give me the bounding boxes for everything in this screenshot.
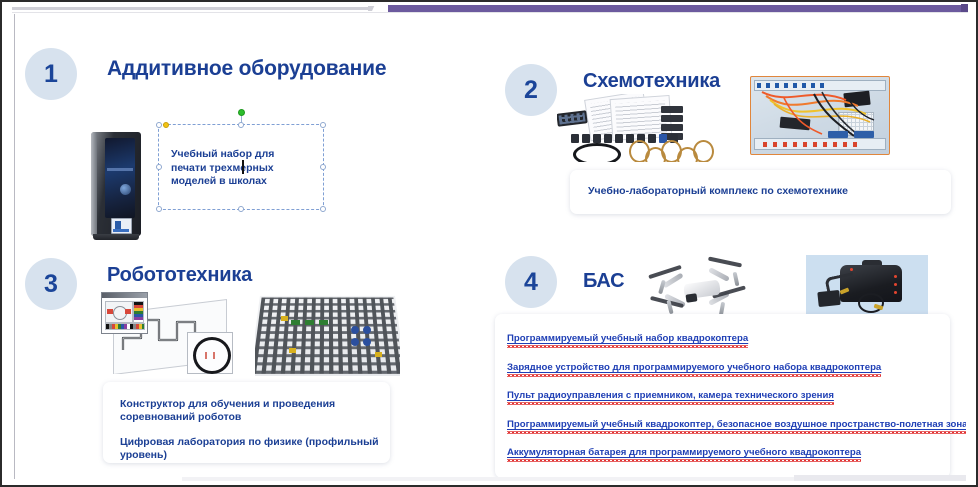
- kit-module: [661, 124, 683, 131]
- resize-handle-bottom-center[interactable]: [238, 206, 244, 212]
- section-circuitry: 2 Схемотехника: [495, 28, 966, 253]
- tray-wheel-part: [351, 338, 359, 346]
- info-card-line: Конструктор для обучения и проведения со…: [120, 398, 390, 424]
- palette-preview: [105, 301, 133, 323]
- case-indicator-led: [850, 268, 853, 271]
- tray-parts-grid: [255, 297, 400, 373]
- kit-component: [582, 134, 590, 143]
- printer-glass-shape: [105, 138, 135, 218]
- drone-propeller: [708, 257, 742, 268]
- rotate-handle[interactable]: [238, 109, 245, 116]
- tray-board-part: [319, 320, 328, 325]
- lab-board-connector: [854, 131, 874, 138]
- info-card-line: Учебно-лабораторный комплекс по схемотех…: [588, 185, 951, 198]
- resize-handle-top-center[interactable]: [238, 122, 244, 128]
- kit-component: [604, 134, 612, 143]
- kit-component: [615, 134, 623, 143]
- sumo-ring-shape: [193, 337, 231, 374]
- printer-gantry-shape: [107, 168, 133, 171]
- section-title-uav: БАС: [583, 270, 624, 293]
- list-item[interactable]: Программируемый учебный квадрокоптер, бе…: [507, 419, 966, 431]
- info-card-line: Цифровая лаборатория по физике (профильн…: [120, 436, 390, 462]
- info-card-robotics: Конструктор для обучения и проведения со…: [103, 382, 390, 463]
- palette-red-block: [107, 309, 113, 314]
- list-item[interactable]: Зарядное устройство для программируемого…: [507, 362, 881, 374]
- section-badge-2: 2: [505, 64, 557, 116]
- ribbon-remnant-left: [12, 7, 376, 10]
- resize-handle-top-right[interactable]: [320, 122, 326, 128]
- section-additive-equipment: 1 Аддитивное оборудование Учебный набор …: [19, 28, 495, 253]
- kit-keypad-shape: [557, 110, 588, 127]
- section-robotics: 3 Робототехника: [19, 246, 495, 479]
- ribbon-remnant-left-taper: [368, 6, 380, 11]
- ribbon-underline: [12, 12, 968, 13]
- tray-small-part: [281, 316, 288, 321]
- info-card-circuitry: Учебно-лабораторный комплекс по схемотех…: [570, 170, 951, 214]
- sumo-ring-window: [187, 332, 233, 374]
- tray-small-part: [375, 352, 382, 357]
- tray-board-part: [291, 320, 300, 325]
- robot-parts-tray-photo: [255, 290, 400, 376]
- resize-handle-bottom-right[interactable]: [320, 206, 326, 212]
- drone-camera-gimbal: [685, 293, 697, 302]
- palette-swatch-column: [133, 301, 144, 323]
- section-title-robotics: Робототехника: [107, 264, 252, 287]
- ribbon-remnant-purple: [388, 5, 967, 12]
- resize-handle-bottom-left[interactable]: [156, 206, 162, 212]
- resize-handle-middle-right[interactable]: [320, 164, 326, 170]
- slide-canvas[interactable]: 1 Аддитивное оборудование Учебный набор …: [14, 14, 966, 479]
- kit-cable-coil: [573, 143, 621, 162]
- printer-edge-shape: [91, 132, 97, 236]
- kit-worksheet-lines: [615, 100, 667, 135]
- section-badge-4: 4: [505, 256, 557, 308]
- presentation-window: 1 Аддитивное оборудование Учебный набор …: [0, 0, 978, 487]
- list-item[interactable]: Аккумуляторная батарея для программируем…: [507, 447, 861, 459]
- tray-small-part: [289, 348, 296, 353]
- tray-wheel-part: [363, 338, 371, 346]
- section-title-circuitry: Схемотехника: [583, 70, 720, 93]
- circuitry-kit-photo: [557, 94, 717, 162]
- kit-jumper-coil: [693, 140, 714, 162]
- tray-board-part: [305, 320, 314, 325]
- palette-swatch-strip: [105, 323, 145, 330]
- lab-board-photo: [750, 76, 890, 155]
- palette-red-block: [125, 309, 131, 314]
- kit-component: [593, 134, 601, 143]
- lab-board-connector: [828, 131, 848, 138]
- printer-spool-shape: [120, 184, 131, 195]
- printer-screen-bar: [113, 229, 129, 232]
- case-indicator-led: [894, 283, 897, 286]
- printer-touchscreen-shape: [111, 218, 132, 234]
- robot-track-photo: [101, 292, 233, 374]
- resize-handle-middle-left[interactable]: [156, 164, 162, 170]
- lab-board-bottom-leds: [763, 142, 859, 147]
- 3d-printer-photo: [81, 124, 153, 244]
- text-caret: [242, 160, 244, 174]
- list-item[interactable]: Пульт радиоуправления с приемником, каме…: [507, 390, 834, 402]
- kit-component: [571, 134, 579, 143]
- printer-screen-icon: [115, 221, 121, 229]
- case-indicator-led: [894, 291, 897, 294]
- tray-wheel-part: [351, 326, 359, 334]
- case-cable-shape: [858, 293, 884, 313]
- selected-textbox-text: Учебный набор для печати трехмерных моде…: [171, 148, 274, 189]
- section-badge-1: 1: [25, 48, 77, 100]
- printer-base-shape: [93, 234, 139, 240]
- color-palette-window: [101, 292, 148, 334]
- section-title-additive: Аддитивное оборудование: [107, 57, 386, 81]
- selected-textbox[interactable]: Учебный набор для печати трехмерных моде…: [158, 124, 324, 210]
- sumo-start-mark: [213, 352, 215, 359]
- kit-module: [661, 115, 683, 122]
- tray-wheel-part: [363, 326, 371, 334]
- uav-equipment-list: Программируемый учебный набор квадрокопт…: [507, 328, 938, 479]
- section-uav: 4 БАС: [495, 246, 966, 479]
- list-item[interactable]: Программируемый учебный набор квадрокопт…: [507, 333, 748, 345]
- kit-jumper-coils: [629, 140, 713, 162]
- slide-bottom-shadow: [182, 477, 794, 481]
- info-card-uav: Программируемый учебный набор квадрокопт…: [495, 314, 950, 478]
- kit-keypad-keys: [559, 112, 586, 124]
- controller-case-photo: [806, 255, 928, 319]
- palette-titlebar: [102, 293, 147, 298]
- drone-arm: [662, 273, 683, 289]
- sumo-start-mark: [205, 352, 207, 359]
- lab-board-bottom-strip: [754, 138, 886, 150]
- kit-module: [661, 106, 683, 113]
- drone-landing-leg: [733, 272, 740, 287]
- section-badge-3: 3: [25, 258, 77, 310]
- case-indicator-led: [894, 275, 897, 278]
- resize-handle-top-left[interactable]: [156, 122, 162, 128]
- adjust-handle[interactable]: [163, 122, 169, 128]
- case-adapter-shape: [817, 290, 840, 307]
- slide-bottom-right-shadow: [794, 475, 966, 481]
